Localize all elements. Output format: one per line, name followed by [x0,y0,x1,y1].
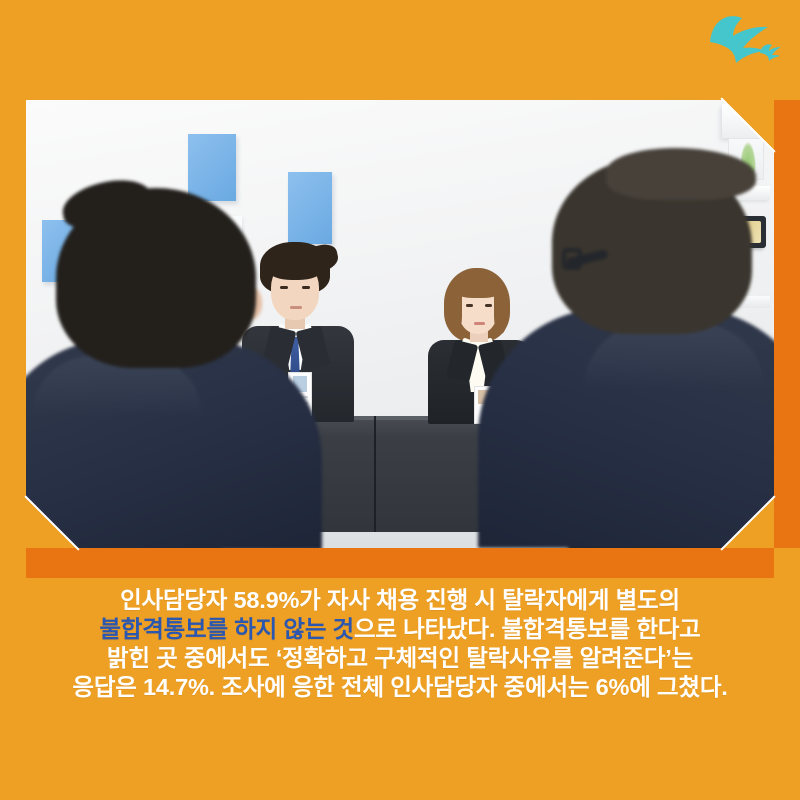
caption-line-2-rest: 으로 나타났다. 불합격통보를 한다고 [354,616,701,642]
caption-block: 인사담당자 58.9%가 자사 채용 진행 시 탈락자에게 별도의 불합격통보를… [0,586,800,702]
eye [302,286,310,289]
interview-photo [26,100,774,548]
infographic-card: 인사담당자 58.9%가 자사 채용 진행 시 탈락자에게 별도의 불합격통보를… [0,0,800,800]
interviewer-left [26,188,302,548]
caption-highlight: 불합격통보를 하지 않는 것 [99,616,354,642]
photo-frame [26,100,774,548]
caption-line-2: 불합격통보를 하지 않는 것으로 나타났다. 불합격통보를 한다고 [6,615,794,644]
photo-scene [26,100,774,548]
accent-strip-right [774,100,800,548]
caption-line-3: 밝힌 곳 중에서도 ‘정확하고 구체적인 탈락사유를 알려준다’는 [6,644,794,673]
interviewer-right [484,158,774,548]
caption-line-4: 응답은 14.7%. 조사에 응한 전체 인사담당자 중에서는 6%에 그쳤다. [6,673,794,702]
eye [466,304,473,307]
caption-line-1: 인사담당자 58.9%가 자사 채용 진행 시 탈락자에게 별도의 [6,586,794,615]
bird-logo [702,6,786,68]
table-seam [374,416,376,532]
eyeglasses-rim [562,248,582,270]
accent-strip-bottom [26,548,774,578]
